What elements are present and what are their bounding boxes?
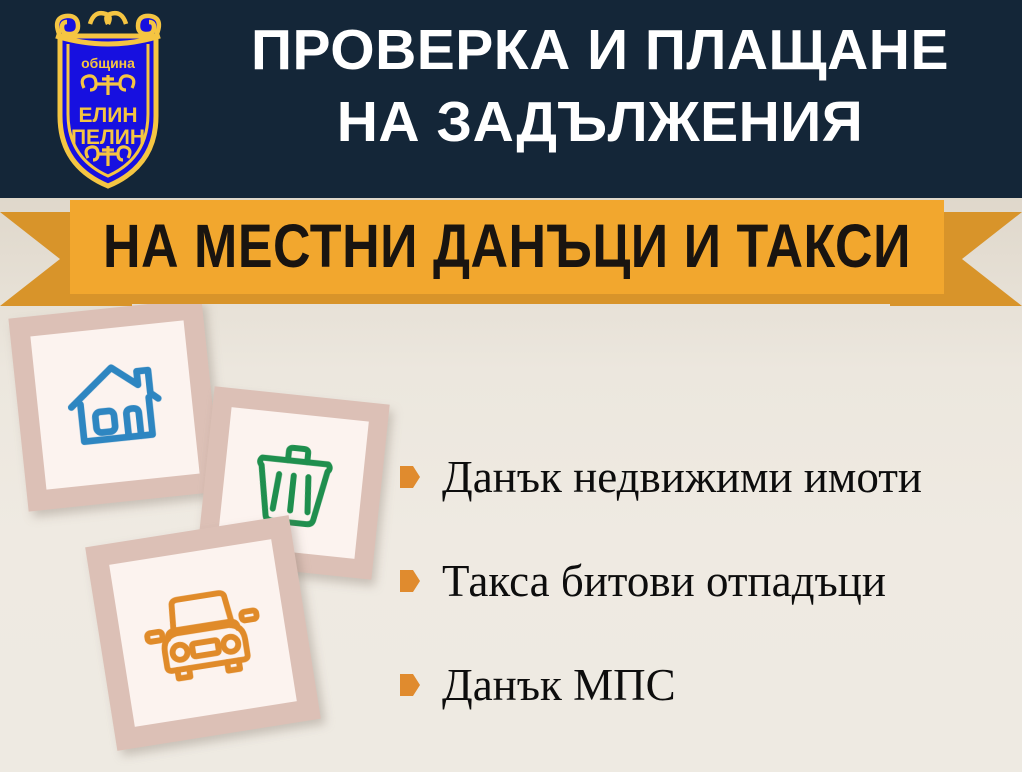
list-item[interactable]: Данък недвижими имоти (400, 425, 1015, 529)
arrow-bullet-icon (400, 569, 420, 593)
title-line-2: НА ЗАДЪЛЖЕНИЯ (185, 86, 1015, 158)
ribbon-text: НА МЕСТНИ ДАНЪЦИ И ТАКСИ (103, 214, 911, 280)
ribbon-banner: НА МЕСТНИ ДАНЪЦИ И ТАКСИ (0, 198, 1022, 306)
poster-root: община ЕЛИН ПЕЛИН ПРОВЕРКА И ПЛАЩАНЕ НА … (0, 0, 1022, 772)
list-item[interactable]: Данък МПС (400, 633, 1015, 737)
list-item[interactable]: Такса битови отпадъци (400, 529, 1015, 633)
stamp-paper-property (30, 320, 199, 489)
stamp-card-vehicle (85, 515, 321, 751)
services-list: Данък недвижими имоти Такса битови отпад… (400, 425, 1015, 737)
poster-title: ПРОВЕРКА И ПЛАЩАНЕ НА ЗАДЪЛЖЕНИЯ (185, 14, 1015, 158)
arrow-bullet-icon (400, 465, 420, 489)
title-line-1: ПРОВЕРКА И ПЛАЩАНЕ (185, 14, 1015, 86)
coat-of-arms: община ЕЛИН ПЕЛИН (38, 6, 178, 192)
list-item-label: Данък МПС (442, 659, 676, 711)
stamp-paper-vehicle (109, 539, 297, 727)
crest-municipality-word: община (81, 55, 135, 71)
arrow-bullet-icon (400, 673, 420, 697)
list-item-label: Такса битови отпадъци (442, 555, 886, 607)
house-icon (58, 348, 172, 462)
stamp-card-property (8, 298, 221, 511)
list-item-label: Данък недвижими имоти (442, 451, 922, 503)
stamp-card-group (0, 290, 420, 760)
ribbon-band: НА МЕСТНИ ДАНЪЦИ И ТАКСИ (70, 200, 944, 294)
crest-name-line-2: ПЕЛИН (71, 126, 145, 149)
car-front-icon (136, 571, 269, 695)
trash-bin-icon (242, 432, 343, 533)
crest-name-line-1: ЕЛИН (78, 104, 137, 127)
